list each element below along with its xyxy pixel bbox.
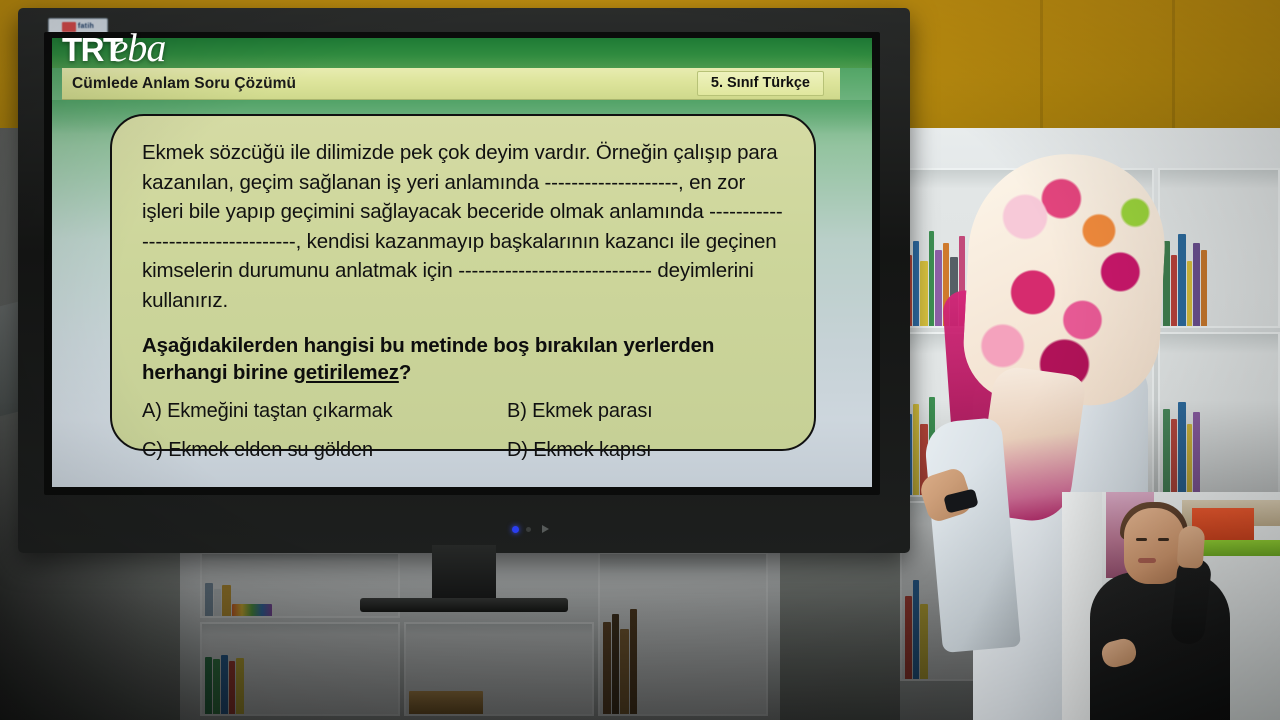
slide-top-band xyxy=(52,38,872,68)
slide-header: Cümlede Anlam Soru Çözümü 5. Sınıf Türkç… xyxy=(62,68,840,100)
option-a[interactable]: A) Ekmeğini taştan çıkarmak xyxy=(142,400,507,423)
monitor-stand-base xyxy=(360,598,568,612)
lesson-title: Cümlede Anlam Soru Çözümü xyxy=(72,75,296,93)
option-c[interactable]: C) Ekmek elden su gölden xyxy=(142,439,507,462)
question-card: Ekmek sözcüğü ile dilimizde pek çok deyi… xyxy=(110,114,816,451)
monitor-stand xyxy=(432,545,496,601)
question-prefix: Aşağıdakilerden hangisi bu metinde boş b… xyxy=(142,334,714,384)
interpreter-eye-left xyxy=(1136,538,1147,541)
question-prompt: Aşağıdakilerden hangisi bu metinde boş b… xyxy=(142,332,784,386)
option-b[interactable]: B) Ekmek parası xyxy=(507,400,784,423)
passage-text: Ekmek sözcüğü ile dilimizde pek çok deyi… xyxy=(142,138,784,315)
sensor-dot xyxy=(526,527,531,532)
question-suffix: ? xyxy=(399,361,411,384)
interpreter-raised-hand xyxy=(1177,525,1206,569)
presentation-slide: Cümlede Anlam Soru Çözümü 5. Sınıf Türkç… xyxy=(52,38,872,487)
interpreter-eye-right xyxy=(1158,538,1169,541)
play-indicator-icon xyxy=(542,525,549,533)
interactive-whiteboard[interactable]: fatih Cümlede Anlam Soru Çözümü 5. Sınıf… xyxy=(18,8,910,553)
sign-language-interpreter-inset xyxy=(1062,492,1280,720)
option-d[interactable]: D) Ekmek kapısı xyxy=(507,439,784,462)
question-underlined-word: getirilemez xyxy=(293,361,398,384)
power-led-indicator xyxy=(512,526,519,533)
teacher-headscarf xyxy=(961,149,1170,409)
interpreter-mouth xyxy=(1138,558,1156,563)
answer-options: A) Ekmeğini taştan çıkarmak B) Ekmek par… xyxy=(142,400,784,462)
interpreter-head xyxy=(1124,508,1184,584)
grade-subject-badge: 5. Sınıf Türkçe xyxy=(697,71,824,96)
video-frame: fatih Cümlede Anlam Soru Çözümü 5. Sınıf… xyxy=(0,0,1280,720)
